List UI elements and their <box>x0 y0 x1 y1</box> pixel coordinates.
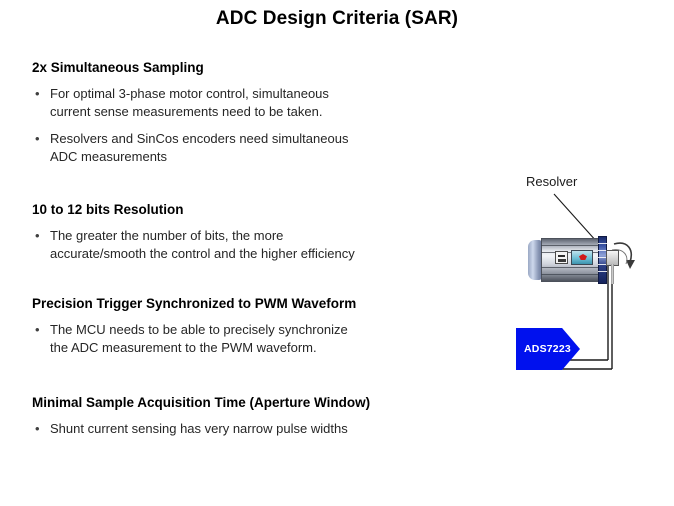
resolver-motor-diagram: Resolver <box>496 164 674 394</box>
section-acquisition-time: Minimal Sample Acquisition Time (Apertur… <box>32 395 452 438</box>
bullet-list: • The MCU needs to be able to precisely … <box>32 321 452 357</box>
motor-nameplate <box>555 251 568 264</box>
section-heading: Precision Trigger Synchronized to PWM Wa… <box>32 296 452 312</box>
motor-shaft <box>611 264 614 284</box>
bullet-marker-icon: • <box>35 227 40 245</box>
motor-fin <box>541 245 599 246</box>
motor-fin <box>541 274 599 275</box>
content-column: 2x Simultaneous Sampling • For optimal 3… <box>32 60 452 438</box>
bullet-marker-icon: • <box>35 321 40 339</box>
bullet-list: • For optimal 3-phase motor control, sim… <box>32 85 452 166</box>
list-item: • The MCU needs to be able to precisely … <box>32 321 452 357</box>
motor-graphic <box>528 236 612 284</box>
section-heading: Minimal Sample Acquisition Time (Apertur… <box>32 395 452 411</box>
flange-slot <box>598 271 607 272</box>
list-item-text: Resolvers and SinCos encoders need simul… <box>50 130 452 166</box>
list-item-text: Shunt current sensing has very narrow pu… <box>50 420 452 438</box>
list-item: • Shunt current sensing has very narrow … <box>32 420 452 438</box>
section-heading: 10 to 12 bits Resolution <box>32 202 452 218</box>
flange-slot <box>598 243 607 244</box>
list-item: • For optimal 3-phase motor control, sim… <box>32 85 452 121</box>
bullet-list: • The greater the number of bits, the mo… <box>32 227 452 263</box>
rotation-arrow-head-icon <box>626 260 635 269</box>
section-heading: 2x Simultaneous Sampling <box>32 60 452 76</box>
list-item: • Resolvers and SinCos encoders need sim… <box>32 130 452 166</box>
bullet-list: • Shunt current sensing has very narrow … <box>32 420 452 438</box>
list-item-text: The MCU needs to be able to precisely sy… <box>50 321 452 357</box>
motor-display-panel <box>571 250 593 265</box>
list-item-text: The greater the number of bits, the more… <box>50 227 452 263</box>
ads7223-label: ADS7223 <box>516 343 571 355</box>
motor-fin <box>541 267 599 268</box>
slide-canvas: ADC Design Criteria (SAR) 2x Simultaneou… <box>0 0 674 506</box>
list-item: • The greater the number of bits, the mo… <box>32 227 452 263</box>
section-precision-trigger: Precision Trigger Synchronized to PWM Wa… <box>32 296 452 357</box>
list-item-text: For optimal 3-phase motor control, simul… <box>50 85 452 121</box>
page-title: ADC Design Criteria (SAR) <box>0 8 674 30</box>
bullet-marker-icon: • <box>35 85 40 103</box>
section-simultaneous-sampling: 2x Simultaneous Sampling • For optimal 3… <box>32 60 452 166</box>
section-resolution: 10 to 12 bits Resolution • The greater t… <box>32 202 452 263</box>
bullet-marker-icon: • <box>35 420 40 438</box>
bullet-marker-icon: • <box>35 130 40 148</box>
motor-endcap <box>528 240 542 280</box>
